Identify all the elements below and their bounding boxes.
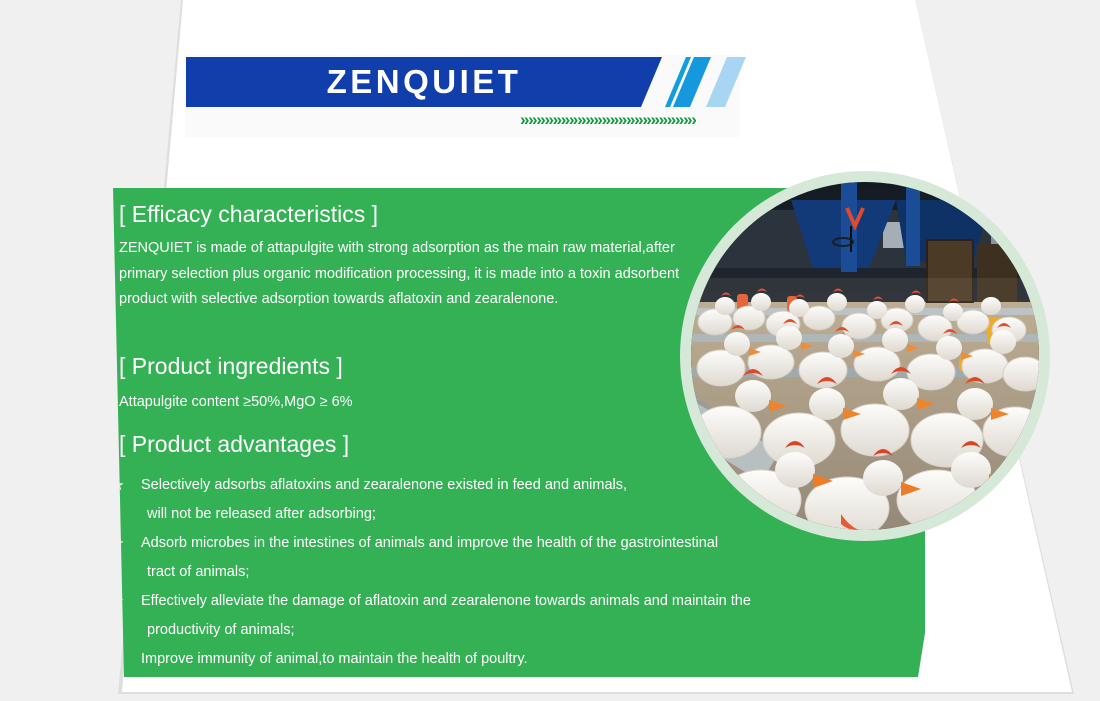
- list-item-line-1: Improve immunity of animal,to maintain t…: [141, 645, 911, 674]
- ingredients-heading: [ Product ingredients ]: [119, 353, 343, 380]
- advantages-heading: [ Product advantages ]: [119, 431, 349, 458]
- list-item: ★ Adsorb microbes in the intestines of a…: [111, 529, 911, 587]
- list-item-line-1: Adsorb microbes in the intestines of ani…: [141, 529, 911, 558]
- star-icon: ★: [111, 471, 124, 500]
- star-icon: ★: [111, 529, 124, 558]
- banner-title: ZENQUIET: [186, 57, 662, 107]
- brand-banner: ZENQUIET: [186, 57, 742, 107]
- efficacy-heading: [ Efficacy characteristics ]: [119, 201, 378, 228]
- poultry-house-illustration: [691, 182, 1039, 530]
- list-item: ★ Effectively alleviate the damage of af…: [111, 587, 911, 645]
- list-item-line-2: tract of animals;: [141, 558, 911, 587]
- product-photo: [691, 182, 1039, 530]
- list-item: ★ Improve immunity of animal,to maintain…: [111, 645, 911, 674]
- ingredients-body-text: Attapulgite content ≥50%,MgO ≥ 6%: [119, 394, 353, 410]
- star-icon: ★: [111, 587, 124, 616]
- banner-slash-3-icon: [706, 57, 746, 107]
- slide-canvas: ZENQUIET »»»»»»»»»»»»»»»»»»»»»»»»»»»»»»»…: [0, 0, 1100, 701]
- chevron-divider-icon: »»»»»»»»»»»»»»»»»»»»»»»»»»»»»»»»»»: [520, 110, 696, 130]
- list-item-line-2: productivity of animals;: [141, 616, 911, 645]
- efficacy-body-text: ZENQUIET is made of attapulgite with str…: [119, 236, 699, 313]
- list-item-line-1: Effectively alleviate the damage of afla…: [141, 587, 911, 616]
